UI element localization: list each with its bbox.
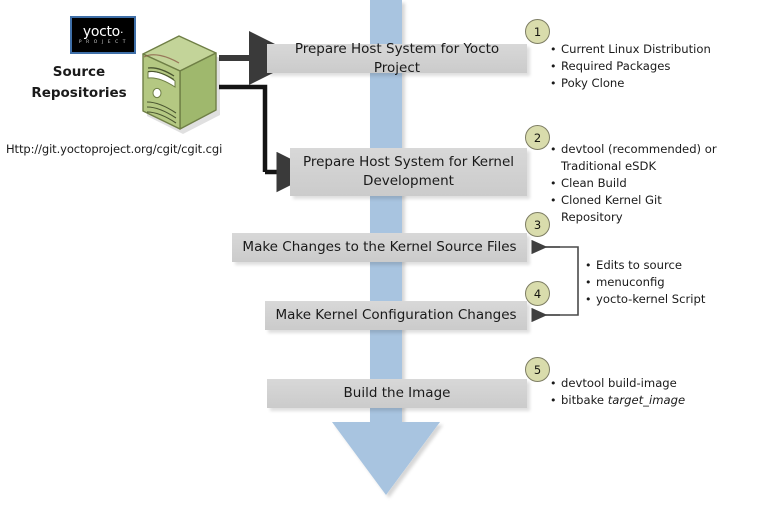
step-number-5: 5 (525, 357, 550, 382)
source-repository-url: Http://git.yoctoproject.org/cgit/cgit.cg… (6, 142, 222, 156)
list-item: Required Packages (550, 58, 755, 75)
step-box-2[interactable]: Prepare Host System for Kernel Developme… (290, 148, 527, 196)
source-repositories-label: Source Repositories (18, 62, 140, 104)
list-item: bitbake target_image (550, 392, 740, 409)
list-item: Poky Clone (550, 75, 755, 92)
step-number-5-label: 5 (534, 363, 541, 377)
step-number-2-label: 2 (534, 131, 541, 145)
step-box-4[interactable]: Make Kernel Configuration Changes (265, 301, 527, 330)
step-1-bullets: Current Linux Distribution Required Pack… (550, 41, 755, 92)
list-item: Clean Build (550, 175, 725, 192)
step-number-4: 4 (525, 281, 550, 306)
step-number-1: 1 (525, 19, 550, 44)
connector-loop-bracket (546, 247, 578, 315)
step-box-5[interactable]: Build the Image (267, 379, 527, 408)
step-box-4-label: Make Kernel Configuration Changes (275, 306, 516, 325)
step-2-bullets: devtool (recommended) or Traditional eSD… (550, 141, 725, 226)
step-number-3-label: 3 (534, 218, 541, 232)
bitbake-command: bitbake (561, 393, 608, 407)
connector-source-to-step2-segment (219, 87, 265, 172)
step-number-2: 2 (525, 125, 550, 150)
bitbake-target-arg: target_image (608, 393, 685, 407)
logo-wordmark: yocto· (83, 25, 123, 39)
step-number-4-label: 4 (534, 287, 541, 301)
list-item: Cloned Kernel Git Repository (550, 192, 725, 226)
logo-subtext: P R O J E C T (79, 41, 127, 45)
list-item: devtool (recommended) or Traditional eSD… (550, 141, 725, 175)
yocto-project-logo: yocto· P R O J E C T (70, 16, 136, 54)
logo-dot: · (120, 26, 123, 39)
server-tower-icon (131, 30, 225, 138)
list-item: Edits to source (585, 257, 760, 274)
step-3-4-bullets: Edits to source menuconfig yocto-kernel … (585, 257, 760, 308)
source-label-line2: Repositories (18, 83, 140, 104)
step-number-1-label: 1 (534, 25, 541, 39)
step-box-5-label: Build the Image (344, 384, 451, 403)
step-box-3[interactable]: Make Changes to the Kernel Source Files (232, 233, 527, 262)
step-box-1-label: Prepare Host System for Yocto Project (275, 40, 519, 78)
list-item: Current Linux Distribution (550, 41, 755, 58)
diagram-canvas: yocto· P R O J E C T Source Repositories… (0, 0, 769, 517)
step-5-bullets: devtool build-image bitbake target_image (550, 375, 740, 409)
step-number-3: 3 (525, 212, 550, 237)
list-item: devtool build-image (550, 375, 740, 392)
source-label-line1: Source (18, 62, 140, 83)
list-item: yocto-kernel Script (585, 291, 760, 308)
step-box-3-label: Make Changes to the Kernel Source Files (242, 238, 516, 257)
list-item: menuconfig (585, 274, 760, 291)
step-box-1[interactable]: Prepare Host System for Yocto Project (267, 44, 527, 73)
step-box-2-label: Prepare Host System for Kernel Developme… (298, 153, 519, 191)
